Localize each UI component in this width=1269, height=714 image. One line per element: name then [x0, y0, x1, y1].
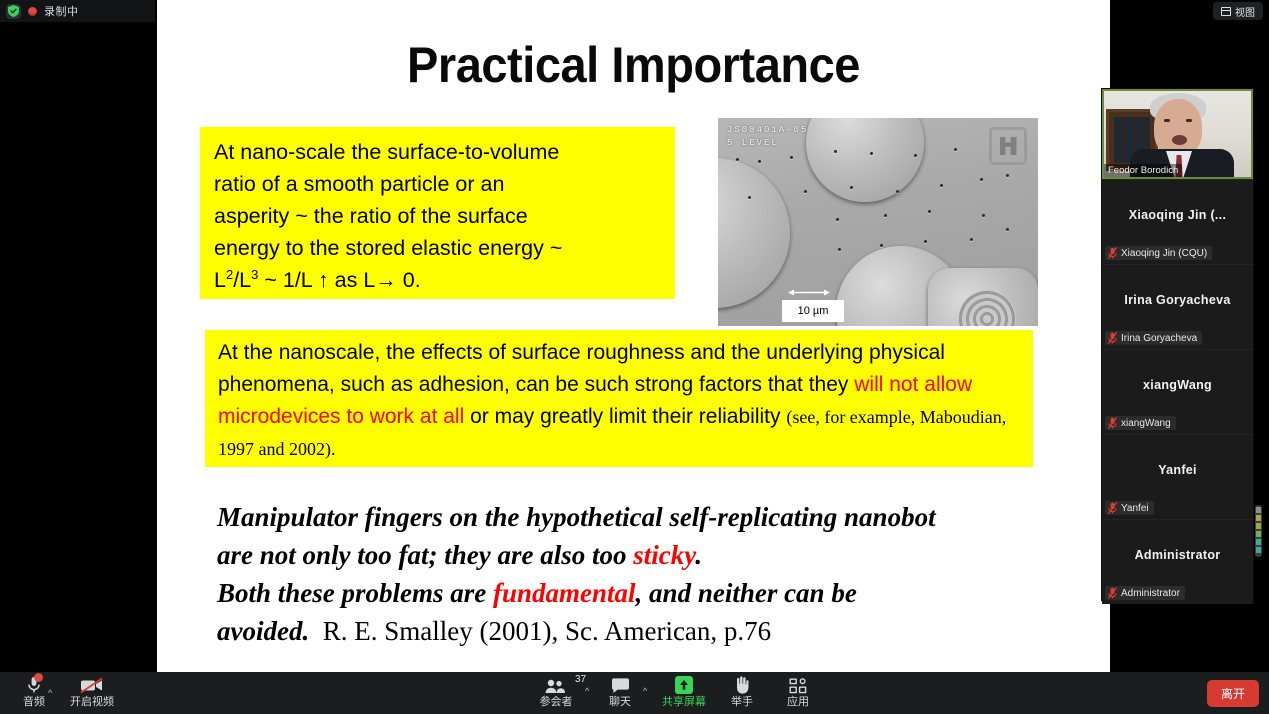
participant-badge-label: xiangWang: [1121, 418, 1171, 429]
box1-line5: L2/L3 ~ 1/L ↑ as L→ 0.: [214, 268, 421, 292]
quote-line-2: are not only too fat; they are also too …: [217, 536, 1097, 574]
audio-caret-icon[interactable]: ^: [48, 688, 52, 698]
recording-label: 录制中: [44, 3, 79, 19]
layout-grid-icon: [1221, 7, 1231, 16]
sem-id-line1: JS08401A-05: [727, 125, 808, 135]
toolbar-raise-hand-button[interactable]: 举手: [712, 675, 772, 708]
box2-text-a: At the nanoscale, the effects of surface…: [218, 341, 945, 396]
toolbar-participants-button[interactable]: 37 参会者: [524, 675, 588, 708]
toolbar-participants-label: 参会者: [540, 696, 573, 708]
shield-check-icon: [6, 4, 21, 19]
quote-line-4: avoided. R. E. Smalley (2001), Sc. Ameri…: [217, 612, 1097, 650]
participant-badge-label: Administrator: [1121, 588, 1180, 599]
toolbar-chat-label: 聊天: [609, 696, 631, 708]
toolbar-share-screen-label: 共享屏幕: [662, 696, 706, 708]
active-speaker-name: Feodor Borodich: [1104, 164, 1182, 177]
participant-name: xiangWang: [1102, 378, 1253, 392]
toolbar-apps-button[interactable]: 应用: [768, 675, 828, 708]
recording-strip: 录制中: [0, 0, 155, 22]
sandia-logo-icon: [989, 127, 1027, 165]
highlight-box-1: At nano-scale the surface-to-volume rati…: [200, 127, 675, 299]
quote-line-2b: .: [695, 540, 702, 570]
microphone-muted-icon: [1108, 247, 1117, 259]
toolbar-raise-hand-label: 举手: [731, 696, 753, 708]
participants-icon: 37: [545, 675, 567, 694]
quote-line-3a: Both these problems are: [217, 578, 493, 608]
quote-line-1: Manipulator fingers on the hypothetical …: [217, 498, 1097, 536]
sem-micrograph: JS08401A-05 5 LEVEL 10 µm: [718, 118, 1038, 326]
toolbar-audio-button[interactable]: 音频: [4, 675, 64, 708]
participants-caret-icon[interactable]: ^: [585, 686, 589, 696]
toolbar-apps-label: 应用: [787, 696, 809, 708]
participant-tile[interactable]: xiangWang xiangWang: [1102, 349, 1253, 434]
scale-arrow-icon: [788, 288, 830, 297]
chat-bubble-icon: [611, 675, 630, 694]
quote-line-3: Both these problems are fundamental, and…: [217, 574, 1097, 612]
participant-video-rail: Feodor Borodich Xiaoqing Jin (... Xiaoqi…: [1101, 88, 1254, 601]
participant-badge-label: Irina Goryacheva: [1121, 333, 1197, 344]
shared-slide: Practical Importance At nano-scale the s…: [157, 0, 1110, 676]
participant-badge: Xiaoqing Jin (CQU): [1105, 246, 1212, 260]
participant-name: Yanfei: [1102, 463, 1253, 477]
box1-line2: ratio of a smooth particle or an: [214, 172, 504, 196]
quote-line-4a: avoided.: [217, 616, 309, 646]
quote-line-3b: , and neither can be: [636, 578, 857, 608]
rail-scrollbar[interactable]: [1255, 505, 1262, 557]
participant-tile[interactable]: Xiaoqing Jin (... Xiaoqing Jin (CQU): [1102, 179, 1253, 264]
microphone-muted-icon: [1108, 417, 1117, 429]
record-dot-icon: [28, 7, 37, 16]
view-layout-label: 视图: [1235, 4, 1255, 19]
participant-badge: Yanfei: [1105, 501, 1154, 515]
microphone-muted-icon: [1108, 587, 1117, 599]
participant-badge: Irina Goryacheva: [1105, 331, 1202, 345]
microphone-icon: [27, 675, 41, 694]
raise-hand-icon: [734, 675, 750, 694]
participant-tile[interactable]: Yanfei Yanfei: [1102, 434, 1253, 519]
slide-quote: Manipulator fingers on the hypothetical …: [217, 498, 1097, 650]
quote-line-2a: are not only too fat; they are also too: [217, 540, 633, 570]
participant-badge-label: Yanfei: [1121, 503, 1149, 514]
scale-bar-label: 10 µm: [782, 300, 844, 322]
quote-fundamental: fundamental: [493, 578, 636, 608]
apps-icon: [789, 675, 807, 694]
participant-tile[interactable]: Irina Goryacheva Irina Goryacheva: [1102, 264, 1253, 349]
view-layout-button[interactable]: 视图: [1213, 2, 1263, 20]
toolbar-share-screen-button[interactable]: 共享屏幕: [651, 675, 717, 708]
highlight-box-2: At the nanoscale, the effects of surface…: [205, 330, 1033, 467]
participant-name: Administrator: [1102, 548, 1253, 562]
microphone-muted-icon: [1108, 332, 1117, 344]
box1-line3: asperity ~ the ratio of the surface: [214, 204, 528, 228]
meeting-toolbar: 音频 ^ 开启视频 37 参会者 ^ 聊天 ^: [0, 672, 1269, 714]
participant-name: Irina Goryacheva: [1102, 293, 1253, 307]
toolbar-video-button[interactable]: 开启视频: [62, 675, 122, 708]
leave-meeting-button[interactable]: 离开: [1207, 680, 1259, 707]
toolbar-video-label: 开启视频: [70, 696, 114, 708]
camera-off-icon: [80, 675, 104, 694]
active-speaker-thumbnail[interactable]: Feodor Borodich: [1102, 89, 1253, 179]
quote-source: R. E. Smalley (2001), Sc. American, p.76: [323, 616, 771, 646]
box1-slash-L: /L: [233, 268, 251, 292]
left-black-background: [0, 22, 157, 672]
box2-text-b: or may greatly limit their reliability: [464, 405, 786, 428]
toolbar-chat-button[interactable]: 聊天: [590, 675, 650, 708]
participant-name: Xiaoqing Jin (...: [1102, 208, 1253, 222]
quote-sticky: sticky: [633, 540, 695, 570]
box1-line1: At nano-scale the surface-to-volume: [214, 140, 559, 164]
zoom-meeting-window: 录制中 你正在观看Feodor Borodich的屏幕 视图选项 ⌄ 视图 Pr…: [0, 0, 1269, 714]
chat-caret-icon[interactable]: ^: [643, 686, 647, 696]
toolbar-audio-label: 音频: [23, 696, 45, 708]
box1-L: L: [214, 268, 226, 292]
box1-line4: energy to the stored elastic energy ~: [214, 236, 562, 260]
share-screen-icon: [675, 675, 693, 694]
box1-tail: ~ 1/L ↑ as L→ 0.: [258, 268, 420, 292]
slide-title: Practical Importance: [186, 36, 1082, 94]
participants-count: 37: [575, 674, 586, 685]
participant-badge-label: Xiaoqing Jin (CQU): [1121, 248, 1207, 259]
sem-id-line2: 5 LEVEL: [727, 138, 779, 148]
participant-badge: xiangWang: [1105, 416, 1176, 430]
sem-id-label: JS08401A-05 5 LEVEL: [727, 124, 808, 150]
microphone-muted-icon: [1108, 502, 1117, 514]
participant-badge: Administrator: [1105, 586, 1185, 600]
participant-tile[interactable]: Administrator Administrator: [1102, 519, 1253, 604]
